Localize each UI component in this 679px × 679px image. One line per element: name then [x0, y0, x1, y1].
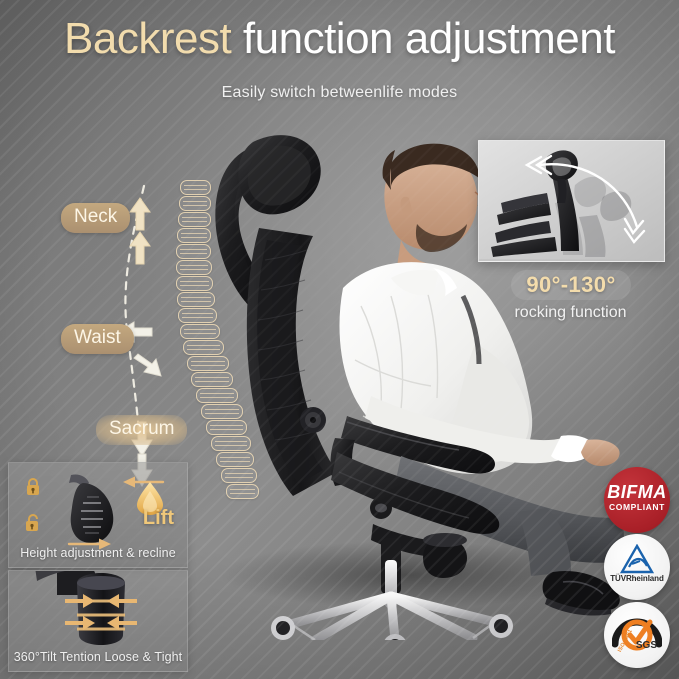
page-subtitle: Easily switch betweenlife modes — [0, 84, 679, 102]
recline-range-illustration — [479, 141, 662, 259]
tuv-triangle-icon — [620, 544, 654, 574]
tilt-card-caption: 360°Tilt Tention Loose & Tight — [9, 650, 187, 664]
rocking-function-caption: rocking function — [478, 304, 663, 322]
infographic-canvas: Backrest function adjustment Easily swit… — [0, 0, 679, 679]
bifma-status: COMPLIANT — [604, 502, 670, 512]
rocking-angle-badge: 90°-130° — [511, 270, 631, 300]
sgs-name: SGS — [636, 640, 657, 651]
spine-label-waist: Waist — [61, 324, 134, 354]
spine-label-neck: Neck — [61, 203, 130, 233]
page-title-rest: function adjustment — [231, 14, 615, 63]
certification-badge-bifma: BIFMA COMPLIANT — [604, 467, 670, 533]
rocking-function-inset — [478, 140, 665, 262]
lift-label: Lift — [143, 507, 174, 530]
feature-card-height-adjustment: Lift Height adjustment & recline — [8, 462, 188, 568]
height-card-caption: Height adjustment & recline — [9, 546, 187, 560]
feature-card-tilt-tension: 360°Tilt Tention Loose & Tight — [8, 570, 188, 672]
page-title: Backrest function adjustment — [0, 14, 679, 64]
lock-open-icon — [25, 513, 41, 533]
page-title-highlight: Backrest — [64, 14, 231, 63]
bifma-name: BIFMA — [604, 482, 670, 503]
certification-badge-tuv: TÜVRheinland — [604, 534, 670, 600]
lock-closed-icon — [25, 477, 41, 497]
certification-badge-sgs: ISO 9001 SGS — [604, 602, 670, 668]
spine-label-sacrum: Sacrum — [96, 415, 187, 445]
arrow-pair-gold-icon — [63, 593, 139, 633]
tuv-name: TÜVRheinland — [604, 574, 670, 583]
